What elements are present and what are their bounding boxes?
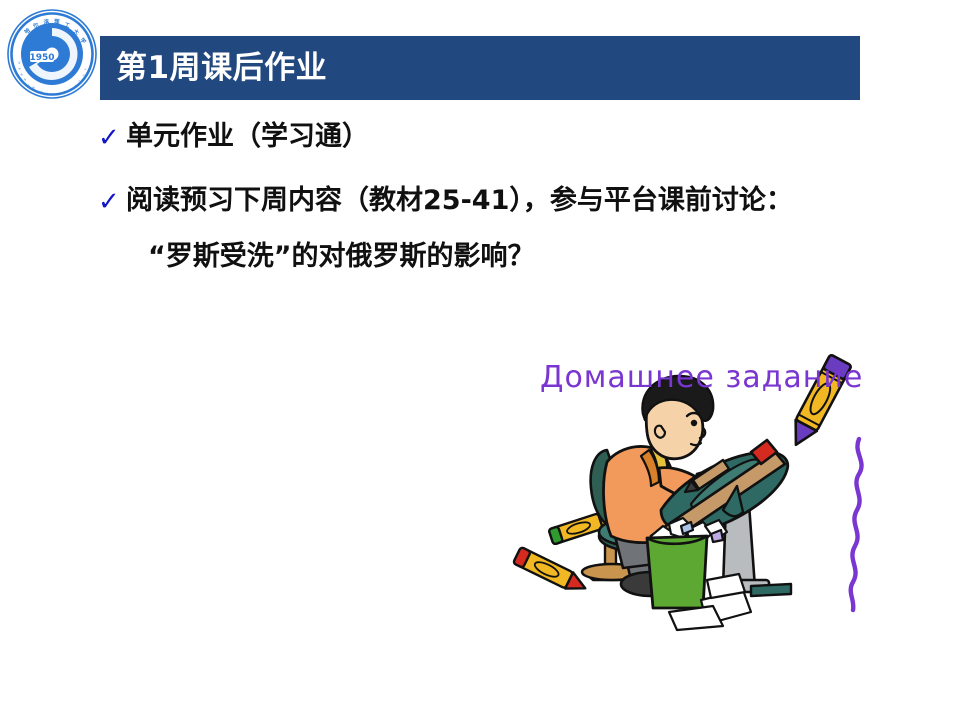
university-emblem-logo: 1950 哈 尔 滨 理 工 大 学 H A R B I N U N I V	[6, 8, 98, 100]
svg-text:N: N	[46, 92, 48, 96]
check-icon: ✓	[98, 118, 126, 156]
page-title: 第1周课后作业	[116, 44, 856, 92]
illustration-caption-ru: Домашнее задание	[540, 360, 863, 395]
check-icon: ✓	[98, 182, 126, 220]
bullet-list: ✓ 单元作业（学习通） ✓ 阅读预习下周内容（教材25-41），参与平台课前讨论…	[98, 118, 958, 246]
bullet-subline-text: “罗斯受洗”的对俄罗斯的影响？	[148, 238, 535, 276]
bullet-text-1: 单元作业（学习通）	[126, 118, 369, 156]
logo-year-text: 1950	[29, 53, 54, 63]
list-item: ✓ 单元作业（学习通）	[98, 118, 958, 156]
homework-illustration: caption Домашнее задание	[455, 340, 925, 650]
bullet-text-2: 阅读预习下周内容（教材25-41），参与平台课前讨论：	[126, 182, 793, 220]
slide-canvas: 1950 哈 尔 滨 理 工 大 学 H A R B I N U N I V	[0, 0, 960, 720]
list-item: ✓ 阅读预习下周内容（教材25-41），参与平台课前讨论：	[98, 182, 958, 220]
